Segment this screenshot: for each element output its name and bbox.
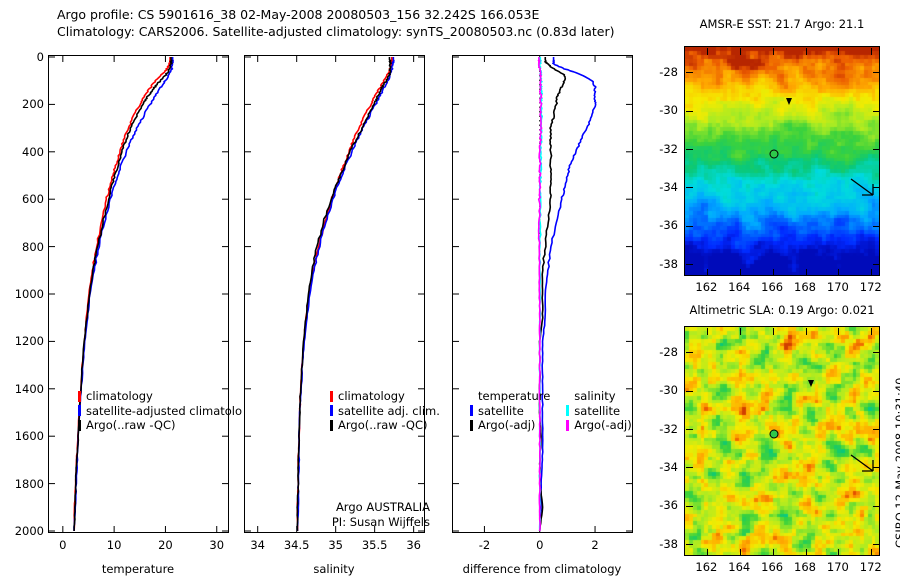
map-longitude-label: 172 xyxy=(841,560,900,574)
map-latitude-label: -38 xyxy=(634,257,678,271)
depth-tick-label: 1200 xyxy=(0,334,44,348)
difference-profile-plot xyxy=(453,56,632,532)
legend-color-swatch xyxy=(566,405,569,416)
legend-column: salinitysatelliteArgo(-adj) xyxy=(566,389,631,433)
map-latitude-tick xyxy=(873,72,880,73)
map-longitude-tick xyxy=(871,328,872,335)
legend-label: climatology xyxy=(338,389,405,404)
legend-entry: climatology xyxy=(330,389,440,404)
credit-line-2: PI: Susan Wijffels xyxy=(325,515,430,530)
map-latitude-label: -30 xyxy=(634,103,678,117)
map-latitude-label: -36 xyxy=(634,218,678,232)
map-latitude-label: -32 xyxy=(634,422,678,436)
map-longitude-tick xyxy=(806,328,807,335)
temperature-axis-label: temperature xyxy=(102,562,174,576)
map-longitude-tick xyxy=(806,269,807,276)
legend-label: climatology xyxy=(86,389,153,404)
map-latitude-tick xyxy=(686,391,693,392)
map-latitude-tick xyxy=(686,429,693,430)
map-longitude-tick xyxy=(773,269,774,276)
temperature-legend: climatologysatellite-adjusted climatoloA… xyxy=(78,389,242,433)
sla-map[interactable] xyxy=(684,326,880,556)
legend-label: Argo(-adj) xyxy=(574,418,631,433)
credit-line-1: Argo AUSTRALIA xyxy=(325,500,430,515)
map-latitude-tick xyxy=(873,506,880,507)
map-latitude-tick xyxy=(873,149,880,150)
depth-tick-label: 1400 xyxy=(0,382,44,396)
map-longitude-label: 172 xyxy=(841,280,900,294)
difference-profile-panel xyxy=(452,55,633,533)
map-latitude-tick xyxy=(686,72,693,73)
legend-label: Argo(..raw -QC) xyxy=(86,418,176,433)
map-longitude-tick xyxy=(838,328,839,335)
legend-entry: Argo(..raw -QC) xyxy=(78,418,242,433)
depth-tick-label: 1000 xyxy=(0,287,44,301)
legend-label: Argo(-adj) xyxy=(478,418,535,433)
sst-map-title: AMSR-E SST: 21.7 Argo: 21.1 xyxy=(700,17,865,31)
map-longitude-tick xyxy=(740,549,741,556)
legend-color-swatch xyxy=(470,405,473,416)
csiro-timestamp: CSIRO 12-May-2008 10:31:40 xyxy=(893,378,900,549)
legend-entry: satellite xyxy=(470,404,550,419)
map-latitude-tick xyxy=(873,467,880,468)
legend-color-swatch xyxy=(566,420,569,431)
map-latitude-tick xyxy=(686,111,693,112)
salinity-profile-plot xyxy=(245,56,424,532)
map-latitude-label: -34 xyxy=(634,180,678,194)
map-latitude-tick xyxy=(873,391,880,392)
map-longitude-tick xyxy=(838,269,839,276)
legend-label: satellite xyxy=(574,404,620,419)
legend-entry: satellite-adjusted climatolo xyxy=(78,404,242,419)
legend-entry: satellite adj. clim. xyxy=(330,404,440,419)
map-latitude-label: -38 xyxy=(634,537,678,551)
sst-field-canvas xyxy=(685,47,879,275)
map-latitude-label: -36 xyxy=(634,498,678,512)
map-longitude-tick xyxy=(871,269,872,276)
salinity-axis-label: salinity xyxy=(313,562,354,576)
map-longitude-tick xyxy=(740,269,741,276)
map-longitude-tick xyxy=(806,48,807,55)
map-latitude-tick xyxy=(873,429,880,430)
legend-color-swatch xyxy=(330,405,333,416)
map-longitude-tick xyxy=(707,269,708,276)
axis-tick-label: 2 xyxy=(565,538,625,552)
map-latitude-label: -30 xyxy=(634,383,678,397)
depth-tick-label: 600 xyxy=(0,192,44,206)
axis-tick-label: 0 xyxy=(510,538,570,552)
map-latitude-label: -28 xyxy=(634,65,678,79)
map-longitude-tick xyxy=(871,549,872,556)
map-latitude-tick xyxy=(686,352,693,353)
header-line-2: Climatology: CARS2006. Satellite-adjuste… xyxy=(57,23,657,40)
map-longitude-tick xyxy=(773,48,774,55)
map-latitude-tick xyxy=(686,506,693,507)
map-longitude-tick xyxy=(773,328,774,335)
legend-color-swatch xyxy=(78,391,81,402)
legend-label: satellite-adjusted climatolo xyxy=(86,404,242,419)
axis-tick-label: 36 xyxy=(384,538,444,552)
salinity-legend: climatologysatellite adj. clim.Argo(..ra… xyxy=(330,389,440,433)
legend-entry: Argo(..raw -QC) xyxy=(330,418,440,433)
header-line-1: Argo profile: CS 5901616_38 02-May-2008 … xyxy=(57,6,657,23)
depth-tick-label: 0 xyxy=(0,50,44,64)
map-longitude-tick xyxy=(773,549,774,556)
map-latitude-tick xyxy=(873,111,880,112)
depth-tick-label: 1600 xyxy=(0,429,44,443)
map-latitude-tick xyxy=(873,544,880,545)
temperature-profile-plot xyxy=(49,56,228,532)
legend-color-swatch xyxy=(330,420,333,431)
map-longitude-tick xyxy=(707,328,708,335)
secondary-profile-marker-sla xyxy=(807,379,815,388)
map-longitude-tick xyxy=(740,328,741,335)
map-longitude-tick xyxy=(740,48,741,55)
depth-tick-label: 2000 xyxy=(0,524,44,538)
map-latitude-tick xyxy=(873,264,880,265)
depth-tick-label: 400 xyxy=(0,145,44,159)
sst-map[interactable] xyxy=(684,46,880,276)
legend-label: Argo(..raw -QC) xyxy=(338,418,428,433)
legend-color-swatch xyxy=(470,420,473,431)
secondary-profile-marker-sst xyxy=(785,97,793,106)
argo-position-marker-sla xyxy=(770,430,779,439)
legend-label: satellite adj. clim. xyxy=(338,404,440,419)
map-latitude-tick xyxy=(686,149,693,150)
map-longitude-tick xyxy=(871,48,872,55)
map-longitude-tick xyxy=(838,48,839,55)
map-latitude-tick xyxy=(686,226,693,227)
depth-tick-label: 1800 xyxy=(0,477,44,491)
axis-tick-label: -2 xyxy=(454,538,514,552)
legend-color-swatch xyxy=(78,420,81,431)
velocity-arrow-icon-sla xyxy=(849,451,879,477)
map-longitude-tick xyxy=(707,549,708,556)
map-longitude-tick xyxy=(707,48,708,55)
depth-tick-label: 800 xyxy=(0,240,44,254)
map-latitude-tick xyxy=(686,264,693,265)
legend-entry: Argo(-adj) xyxy=(470,418,550,433)
legend-color-swatch xyxy=(78,405,81,416)
map-latitude-tick xyxy=(686,544,693,545)
salinity-profile-panel xyxy=(244,55,425,533)
plot-header: Argo profile: CS 5901616_38 02-May-2008 … xyxy=(57,6,657,40)
map-longitude-tick xyxy=(806,549,807,556)
depth-tick-label: 200 xyxy=(0,97,44,111)
difference-legend: temperaturesatelliteArgo(-adj)salinitysa… xyxy=(470,389,632,433)
map-latitude-tick xyxy=(686,187,693,188)
legend-column: temperaturesatelliteArgo(-adj) xyxy=(470,389,550,433)
sla-field-canvas xyxy=(685,327,879,555)
difference-axis-label: difference from climatology xyxy=(463,562,622,576)
map-latitude-label: -34 xyxy=(634,460,678,474)
map-latitude-tick xyxy=(873,352,880,353)
legend-entry: Argo(-adj) xyxy=(566,418,631,433)
map-longitude-tick xyxy=(838,549,839,556)
sla-map-title: Altimetric SLA: 0.19 Argo: 0.021 xyxy=(689,303,874,317)
map-latitude-label: -28 xyxy=(634,345,678,359)
map-latitude-tick xyxy=(873,187,880,188)
legend-entry: climatology xyxy=(78,389,242,404)
legend-color-swatch xyxy=(330,391,333,402)
credit-block: Argo AUSTRALIA PI: Susan Wijffels xyxy=(325,500,430,529)
legend-column-header: temperature xyxy=(470,389,550,404)
temperature-profile-panel xyxy=(48,55,229,533)
legend-column-header: salinity xyxy=(566,389,631,404)
map-latitude-tick xyxy=(686,467,693,468)
map-latitude-label: -32 xyxy=(634,142,678,156)
legend-label: satellite xyxy=(478,404,524,419)
legend-entry: satellite xyxy=(566,404,631,419)
map-latitude-tick xyxy=(873,226,880,227)
argo-position-marker-sst xyxy=(770,150,779,159)
